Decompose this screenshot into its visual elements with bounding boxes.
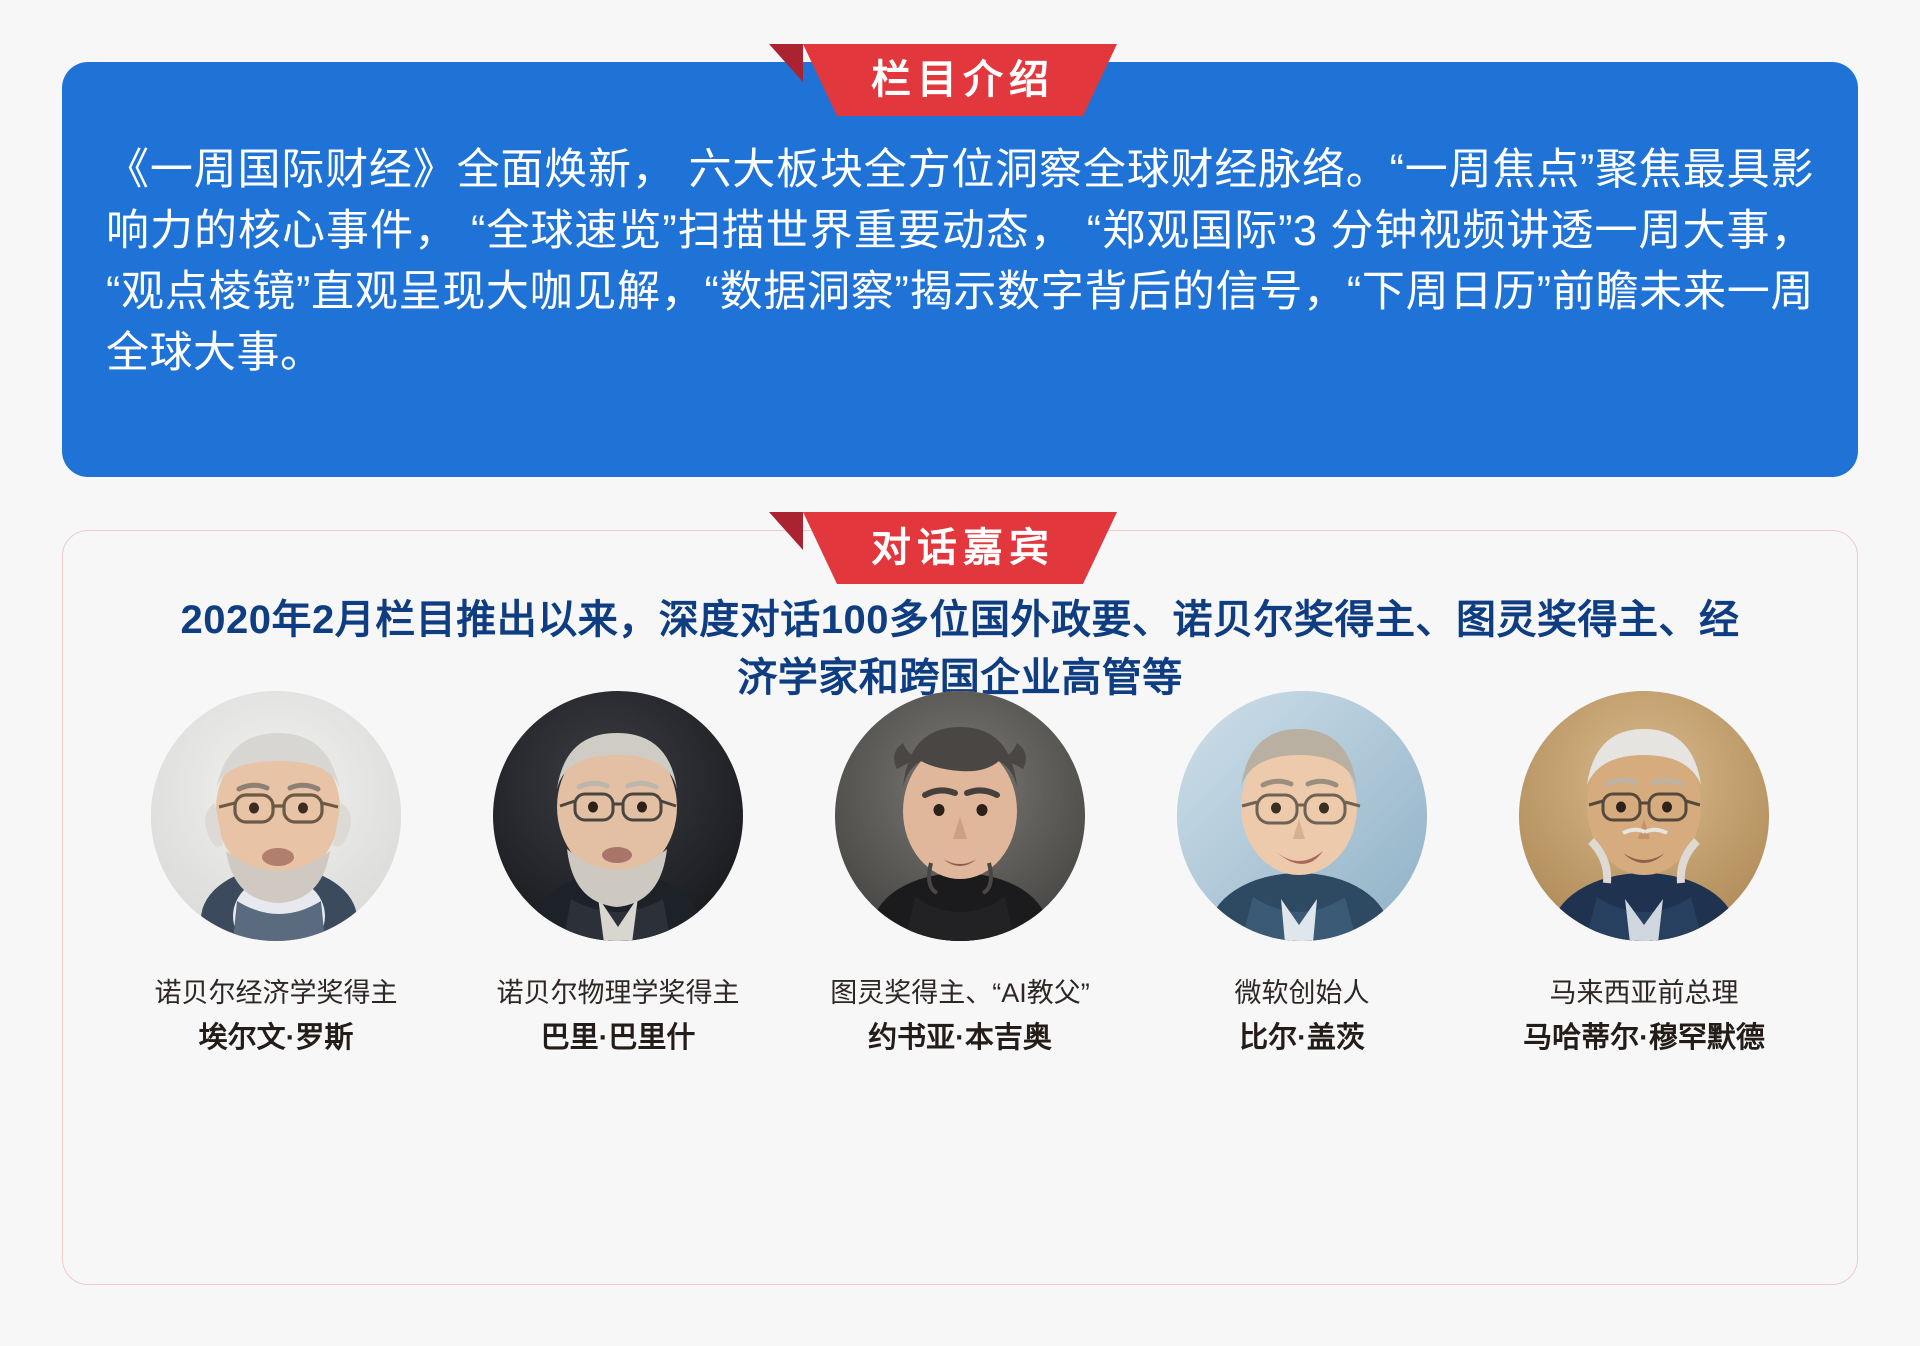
portrait-bill-gates	[1177, 691, 1427, 941]
intro-body-text: 《一周国际财经》全面焕新， 六大板块全方位洞察全球财经脉络。“一周焦点”聚焦最具…	[106, 140, 1814, 384]
guest-title: 马来西亚前总理	[1550, 977, 1739, 1009]
guests-ribbon: 对话嘉宾	[803, 512, 1117, 584]
portrait-mahathir-mohamad	[1519, 691, 1769, 941]
guests-ribbon-label: 对话嘉宾	[865, 528, 1055, 568]
ribbon-body: 栏目介绍	[803, 44, 1117, 116]
guest-title: 图灵奖得主、“AI教父”	[830, 977, 1090, 1009]
poster-page: 《一周国际财经》全面焕新， 六大板块全方位洞察全球财经脉络。“一周焦点”聚焦最具…	[0, 0, 1920, 1346]
guest-name: 马哈蒂尔·穆罕默德	[1523, 1021, 1765, 1056]
intro-ribbon-label: 栏目介绍	[865, 60, 1055, 100]
guest-name: 埃尔文·罗斯	[199, 1021, 354, 1056]
guests-card: 2020年2月栏目推出以来，深度对话100多位国外政要、诺贝尔奖得主、图灵奖得主…	[62, 530, 1858, 1285]
guest-title: 诺贝尔物理学奖得主	[497, 977, 740, 1009]
guest-item[interactable]: 诺贝尔经济学奖得主 埃尔文·罗斯	[128, 691, 424, 1056]
portrait-yoshua-bengio	[835, 691, 1085, 941]
intro-ribbon: 栏目介绍	[803, 44, 1117, 116]
portrait-barry-barish	[493, 691, 743, 941]
guest-title: 诺贝尔经济学奖得主	[155, 977, 398, 1009]
guests-row: 诺贝尔经济学奖得主 埃尔文·罗斯	[63, 691, 1857, 1056]
guest-item[interactable]: 微软创始人 比尔·盖茨	[1154, 691, 1450, 1056]
guest-item[interactable]: 诺贝尔物理学奖得主 巴里·巴里什	[470, 691, 766, 1056]
intro-card: 《一周国际财经》全面焕新， 六大板块全方位洞察全球财经脉络。“一周焦点”聚焦最具…	[62, 62, 1858, 477]
ribbon-body: 对话嘉宾	[803, 512, 1117, 584]
guest-name: 巴里·巴里什	[541, 1021, 696, 1056]
guest-name: 比尔·盖茨	[1239, 1021, 1365, 1056]
guest-item[interactable]: 图灵奖得主、“AI教父” 约书亚·本吉奥	[812, 691, 1108, 1056]
guest-name: 约书亚·本吉奥	[868, 1021, 1052, 1056]
guests-heading: 2020年2月栏目推出以来，深度对话100多位国外政要、诺贝尔奖得主、图灵奖得主…	[180, 591, 1740, 707]
guest-title: 微软创始人	[1235, 977, 1370, 1009]
guest-item[interactable]: 马来西亚前总理 马哈蒂尔·穆罕默德	[1496, 691, 1792, 1056]
portrait-alvin-roth	[151, 691, 401, 941]
